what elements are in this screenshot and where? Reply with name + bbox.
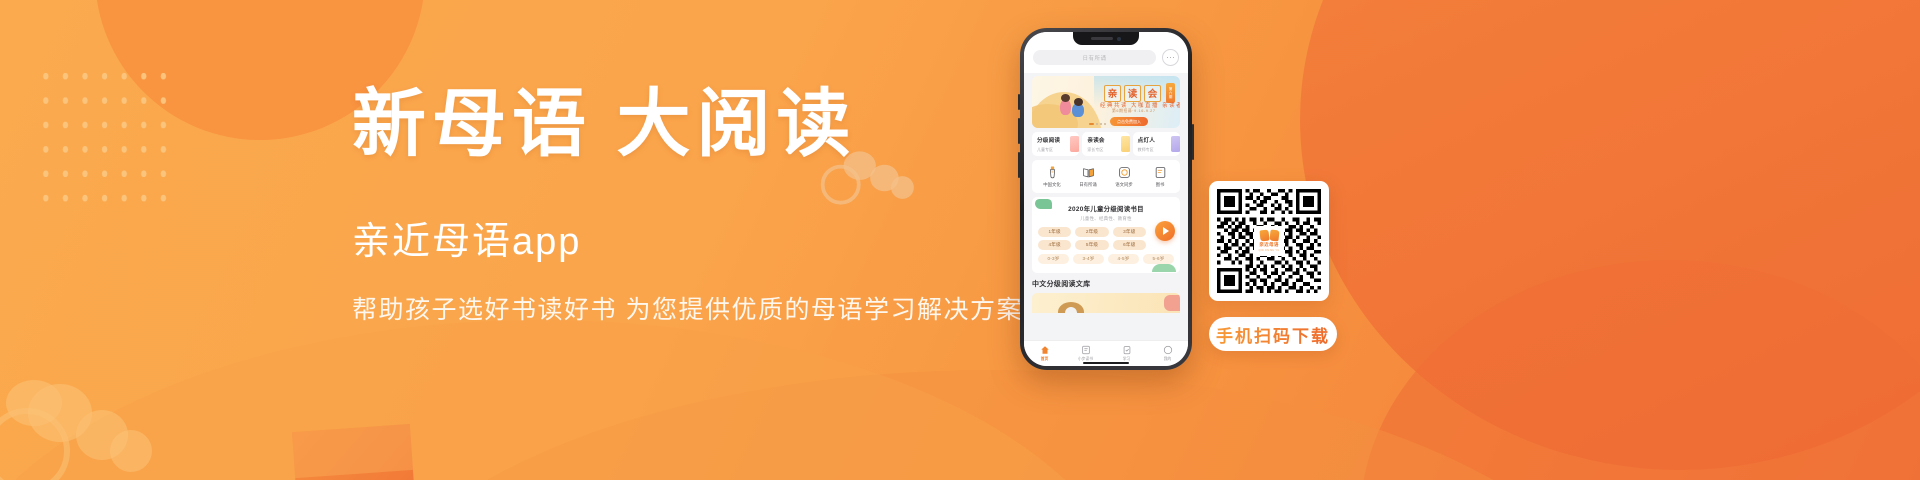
app-name: 亲近母语app — [352, 222, 1052, 264]
quick-link-textbook-sync[interactable]: 语文同步 — [1106, 166, 1142, 188]
age-chip[interactable]: 3-4岁 — [1073, 254, 1104, 264]
grade-chip[interactable]: 6年级 — [1113, 240, 1146, 250]
play-button[interactable] — [1155, 221, 1175, 241]
book-decor-icon — [1171, 136, 1180, 152]
phone-volume-down-button — [1018, 152, 1020, 178]
tab-reading[interactable]: 小步读书 — [1065, 345, 1106, 362]
grade-chip[interactable]: 2年级 — [1075, 227, 1108, 237]
age-chip[interactable]: 4-5岁 — [1108, 254, 1139, 264]
leaf-decor-icon — [1035, 199, 1052, 209]
hero-child-illustration-1 — [1060, 99, 1071, 115]
download-button-label: 手机扫码下载 — [1216, 322, 1330, 347]
hero-issue-tag: 第六期 — [1166, 83, 1175, 103]
book-decor-icon — [1070, 136, 1079, 152]
hero-title-char-1: 亲 — [1104, 85, 1121, 102]
age-chip[interactable]: 5-6岁 — [1143, 254, 1174, 264]
quick-link-label: 语文同步 — [1115, 182, 1133, 188]
grade-chip[interactable]: 3年级 — [1113, 227, 1146, 237]
speaker-icon — [1091, 37, 1113, 40]
category-card-graded-reading[interactable]: 分级阅读 儿童专区 — [1032, 132, 1079, 156]
banner-description: 帮助孩子选好书读好书 为您提供优质的母语学习解决方案 — [352, 290, 1052, 326]
category-cards: 分级阅读 儿童专区 亲读会 家长专区 点灯人 教师专区 — [1032, 132, 1180, 156]
hero-title: 亲 读 会 第六期 — [1104, 83, 1175, 103]
phone-volume-up-button — [1018, 118, 1020, 144]
quick-link-books[interactable]: 图书 — [1142, 166, 1178, 188]
booklist-subtitle: 儿童性、经典性、教育性 — [1038, 216, 1174, 222]
phone-mute-switch — [1018, 94, 1020, 110]
age-row: 0-3岁 3-4岁 4-5岁 5-6岁 — [1038, 254, 1174, 264]
hero-date: 第6期招募·9.16-9.27 — [1112, 109, 1156, 114]
leaf-decor-icon — [1152, 264, 1176, 272]
booklist-title: 2020年儿童分级阅读书目 — [1038, 204, 1174, 213]
hero-title-char-2: 读 — [1124, 85, 1141, 102]
grade-selector: 1年级 2年级 3年级 4年级 5年级 6年级 0-3岁 — [1038, 227, 1174, 264]
quick-link-label: 日有所诵 — [1079, 182, 1097, 188]
book-icon — [1154, 166, 1167, 179]
home-icon — [1040, 345, 1050, 355]
card-subtitle: 家长专区 — [1087, 147, 1125, 153]
home-indicator — [1083, 362, 1129, 364]
hero-subtitle: 经典共读 大咖直播 亲读者说 — [1100, 101, 1180, 109]
grade-chip[interactable]: 4年级 — [1038, 240, 1071, 250]
hero-banner[interactable]: 亲 读 会 第六期 经典共读 大咖直播 亲读者说 第6期招募·9.16-9.27… — [1032, 76, 1180, 128]
qr-download-block: 亲近母语 QIN JIN MU YU 手机扫码下载 — [1209, 181, 1337, 351]
promo-banner: 新母语 大阅读 亲近母语app 帮助孩子选好书读好书 为您提供优质的母语学习解决… — [0, 0, 1920, 480]
front-camera-icon — [1117, 37, 1121, 41]
download-button[interactable]: 手机扫码下载 — [1209, 317, 1337, 351]
grade-chip[interactable]: 5年级 — [1075, 240, 1108, 250]
library-illustration-3 — [1164, 295, 1180, 311]
play-icon — [1163, 227, 1169, 235]
library-illustration-2 — [1065, 307, 1077, 313]
app-content: 亲 读 会 第六期 经典共读 大咖直播 亲读者说 第6期招募·9.16-9.27… — [1024, 76, 1188, 313]
book-decor-icon — [1121, 136, 1130, 152]
banner-copy: 新母语 大阅读 亲近母语app 帮助孩子选好书读好书 为您提供优质的母语学习解决… — [352, 88, 1052, 326]
brand-name: 亲近母语 — [1259, 242, 1279, 248]
brand-name-pinyin: QIN JIN MU YU — [1259, 249, 1280, 252]
phone-mockup: 日有所诵 亲 读 会 第六期 经典共读 大咖直播 亲读者说 — [1020, 28, 1192, 370]
tab-home[interactable]: 首页 — [1024, 345, 1065, 362]
phone-screen: 日有所诵 亲 读 会 第六期 经典共读 大咖直播 亲读者说 — [1024, 32, 1188, 366]
quick-link-label: 中国文化 — [1043, 182, 1061, 188]
decor-dot-grid — [36, 64, 170, 212]
grade-chip[interactable]: 1年级 — [1038, 227, 1071, 237]
carousel-dots[interactable] — [1089, 123, 1106, 125]
decor-cube — [292, 424, 418, 480]
grade-row-2: 4年级 5年级 6年级 — [1038, 240, 1174, 250]
tab-label: 首页 — [1041, 357, 1049, 362]
list-icon — [1081, 345, 1091, 355]
tab-study[interactable]: 学习 — [1106, 345, 1147, 362]
hero-cta-button[interactable]: 点击免费加入 — [1110, 117, 1148, 126]
qr-center-logo: 亲近母语 QIN JIN MU YU — [1254, 226, 1284, 256]
tab-label: 我的 — [1164, 357, 1172, 362]
search-input[interactable]: 日有所诵 — [1033, 50, 1156, 65]
decor-circle-right — [1300, 0, 1920, 470]
phone-power-button — [1192, 124, 1194, 160]
card-title: 亲读会 — [1087, 136, 1125, 144]
grade-row-1: 1年级 2年级 3年级 — [1038, 227, 1174, 237]
clipboard-check-icon — [1122, 345, 1132, 355]
quick-links: 中国文化 日有所诵 — [1032, 160, 1180, 193]
category-card-teacher[interactable]: 点灯人 教师专区 — [1133, 132, 1180, 156]
quick-link-label: 图书 — [1156, 182, 1165, 188]
vase-icon — [1046, 166, 1059, 179]
hero-child-illustration-2 — [1072, 103, 1084, 117]
quick-link-daily-recitation[interactable]: 日有所诵 — [1070, 166, 1106, 188]
decor-circle-bottom-right — [1360, 260, 1920, 480]
library-card[interactable] — [1032, 293, 1180, 313]
library-section-title: 中文分级阅读文库 — [1032, 279, 1180, 289]
phone-notch — [1073, 32, 1139, 45]
category-card-parent-reading[interactable]: 亲读会 家长专区 — [1082, 132, 1129, 156]
page-title: 新母语 大阅读 — [352, 88, 1052, 162]
circle-sync-icon — [1118, 166, 1131, 179]
qr-code[interactable]: 亲近母语 QIN JIN MU YU — [1209, 181, 1329, 301]
age-chip[interactable]: 0-3岁 — [1038, 254, 1069, 264]
tab-profile[interactable]: 我的 — [1147, 345, 1188, 362]
brand-mark-icon — [1260, 230, 1279, 241]
more-icon[interactable] — [1162, 49, 1179, 66]
quick-link-chinese-culture[interactable]: 中国文化 — [1034, 166, 1070, 188]
user-icon — [1163, 345, 1173, 355]
open-book-icon — [1082, 166, 1095, 179]
hero-title-char-3: 会 — [1144, 85, 1161, 102]
booklist-section: 2020年儿童分级阅读书目 儿童性、经典性、教育性 1年级 2年级 3年级 4年… — [1032, 197, 1180, 273]
